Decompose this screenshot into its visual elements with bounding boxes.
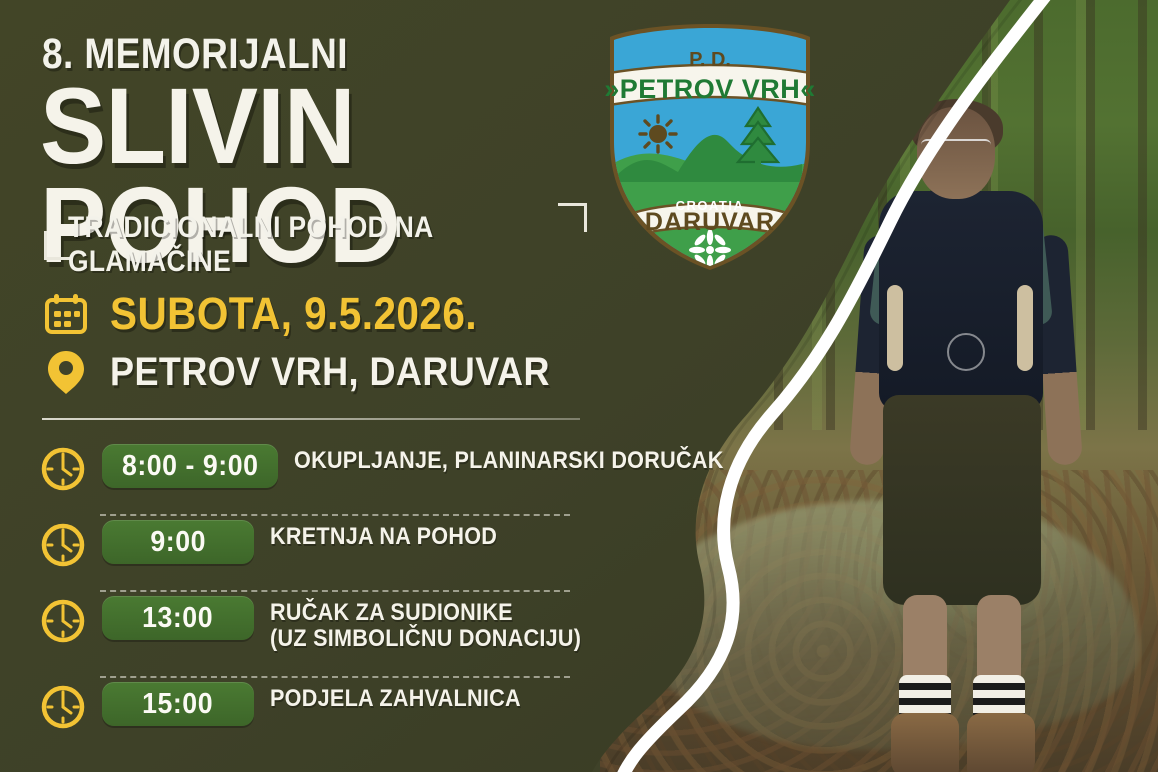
subtitle-block: TRADICIONALNI POHOD NA GLAMAČINE — [44, 205, 584, 263]
schedule-time: 8:00 - 9:00 — [122, 450, 259, 483]
clock-icon — [40, 522, 86, 568]
event-poster: P. D. »PETROV VRH« CROATIA DARUVAR 8. ME… — [0, 0, 1158, 772]
date-row: SUBOTA, 9.5.2026. — [44, 288, 518, 340]
schedule-description: OKUPLJANJE, PLANINARSKI DORUČAK — [294, 448, 771, 474]
bracket-top-right-icon — [558, 203, 587, 232]
schedule-description: RUČAK ZA SUDIONIKE (UZ SIMBOLIČNU DONACI… — [270, 600, 616, 652]
schedule-description: KRETNJA NA POHOD — [270, 524, 522, 550]
clock-icon — [40, 446, 86, 492]
schedule-time-pill: 15:00 — [102, 682, 254, 726]
badge-top-text: P. D. — [689, 49, 731, 71]
schedule-time: 15:00 — [142, 688, 213, 721]
badge-city-text: DARUVAR — [645, 208, 775, 236]
schedule-description-line: RUČAK ZA SUDIONIKE — [270, 600, 581, 626]
event-date: SUBOTA, 9.5.2026. — [110, 288, 477, 340]
schedule-time-pill: 13:00 — [102, 596, 254, 640]
schedule-time: 13:00 — [142, 602, 213, 635]
schedule-row: 9:00 KRETNJA NA POHOD — [40, 516, 640, 590]
schedule-list: 8:00 - 9:00 OKUPLJANJE, PLANINARSKI DORU… — [40, 440, 640, 752]
schedule-description-line: PODJELA ZAHVALNICA — [270, 686, 521, 712]
schedule-description-line: OKUPLJANJE, PLANINARSKI DORUČAK — [294, 448, 724, 474]
schedule-time-pill: 9:00 — [102, 520, 254, 564]
event-location: PETROV VRH, DARUVAR — [110, 350, 550, 395]
clock-icon — [40, 598, 86, 644]
location-row: PETROV VRH, DARUVAR — [44, 348, 599, 396]
schedule-row: 8:00 - 9:00 OKUPLJANJE, PLANINARSKI DORU… — [40, 440, 640, 514]
schedule-row: 13:00 RUČAK ZA SUDIONIKE (UZ SIMBOLIČNU … — [40, 592, 640, 676]
schedule-description-line: KRETNJA NA POHOD — [270, 524, 497, 550]
schedule-time-pill: 8:00 - 9:00 — [102, 444, 278, 488]
schedule-row: 15:00 PODJELA ZAHVALNICA — [40, 678, 640, 752]
map-pin-icon — [44, 348, 88, 396]
subtitle-text: TRADICIONALNI POHOD NA GLAMAČINE — [68, 211, 522, 279]
poster-content: 8. MEMORIJALNI SLIVIN POHOD TRADICIONALN… — [0, 0, 660, 772]
clock-icon — [40, 684, 86, 730]
section-divider — [42, 418, 580, 420]
schedule-description: PODJELA ZAHVALNICA — [270, 686, 549, 712]
schedule-time: 9:00 — [150, 526, 206, 559]
calendar-icon — [44, 292, 88, 336]
schedule-description-line: (UZ SIMBOLIČNU DONACIJU) — [270, 626, 581, 652]
